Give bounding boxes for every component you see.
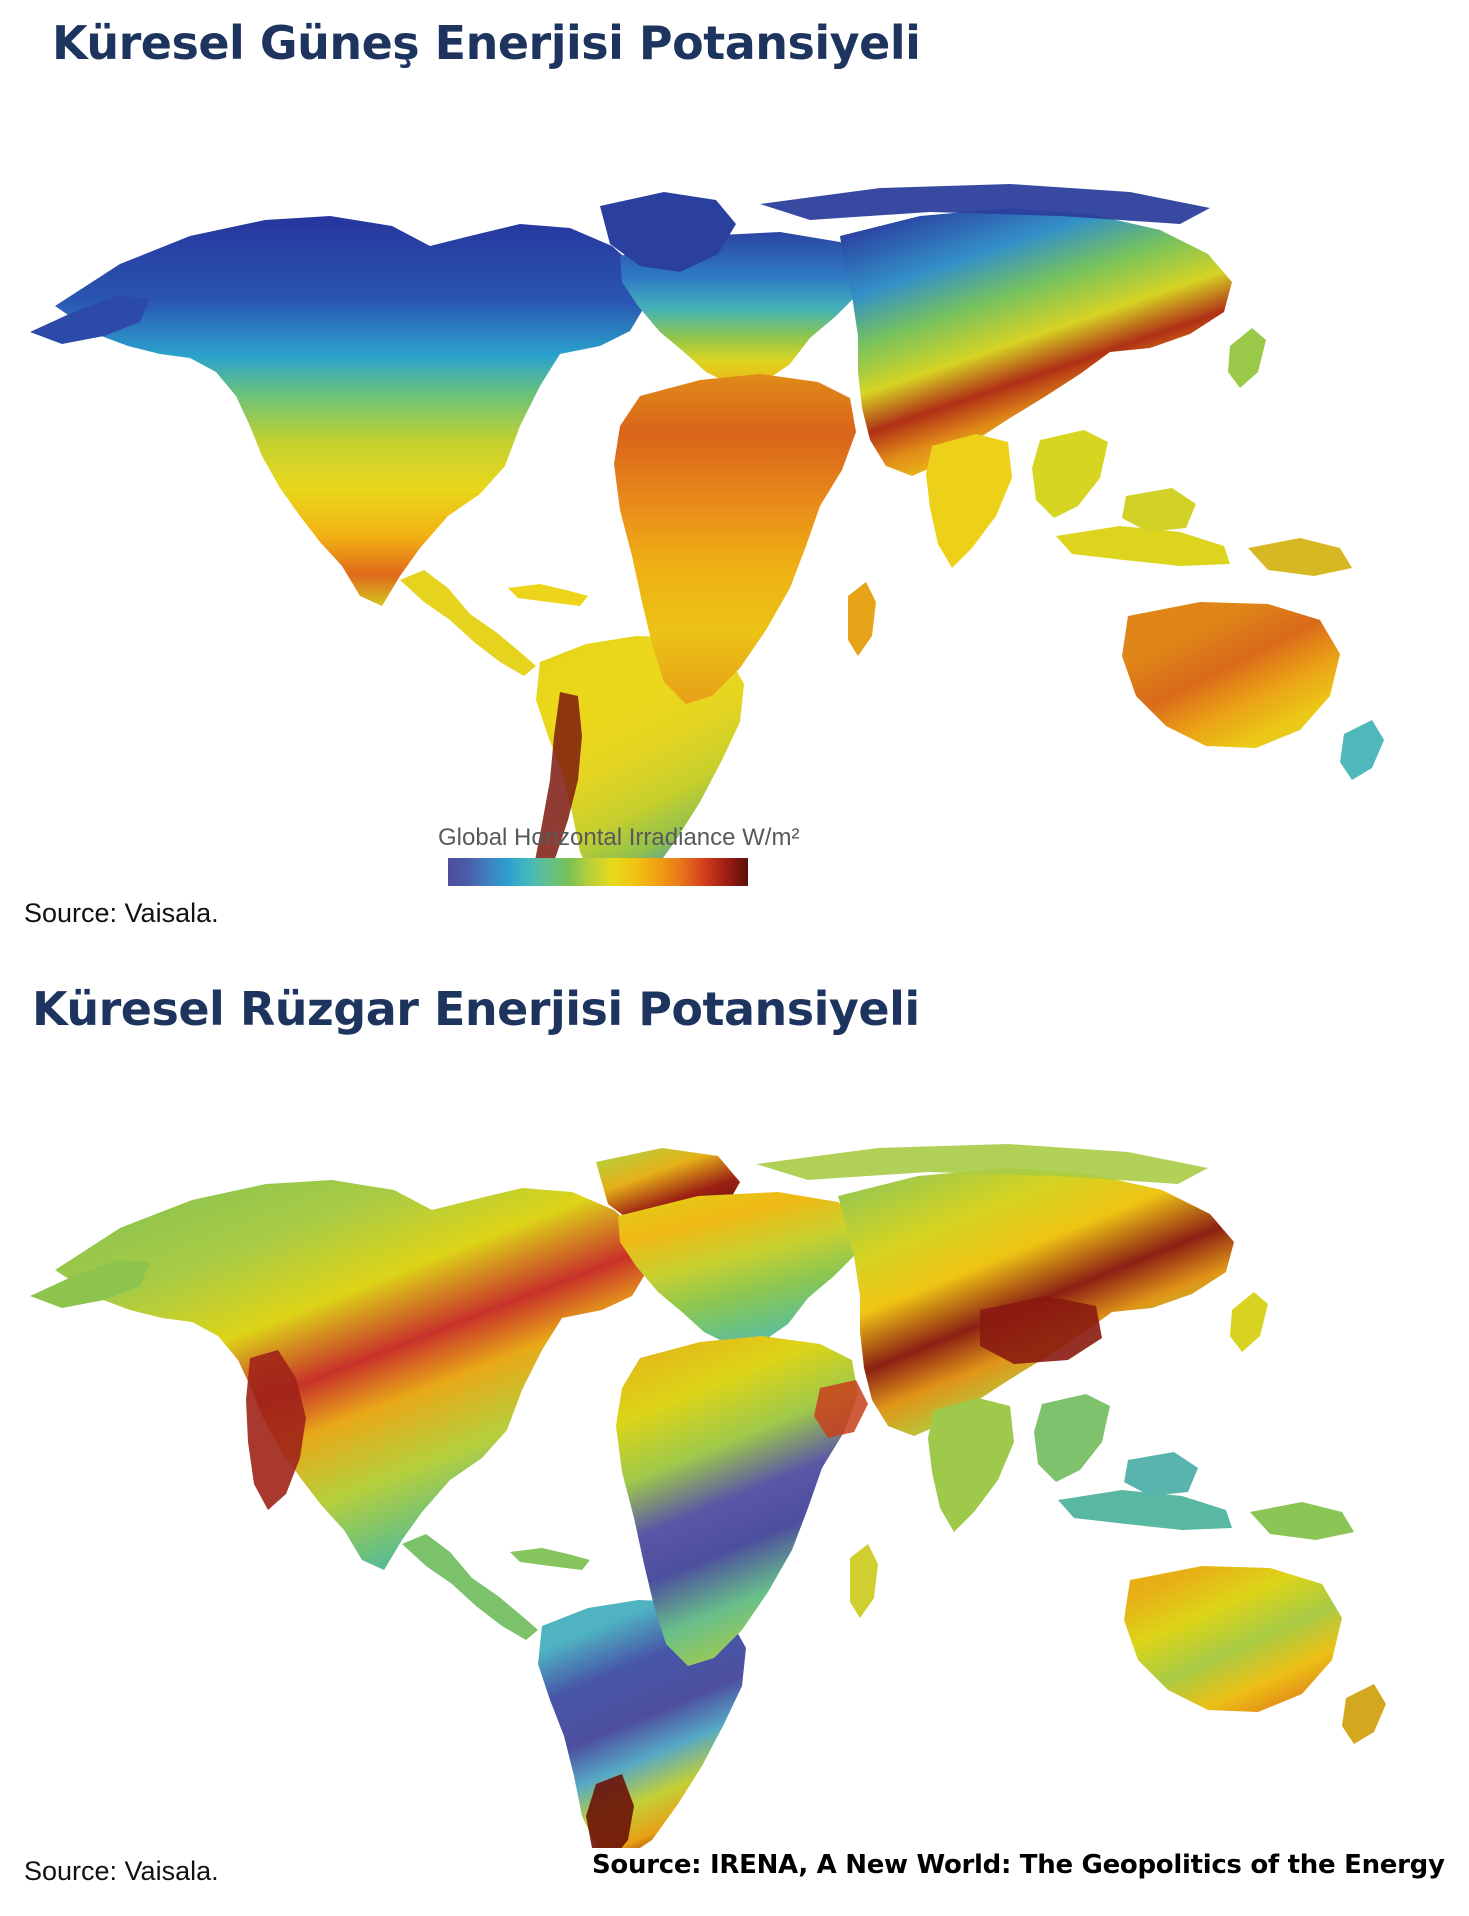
landmass-japan [1230, 1292, 1268, 1352]
landmass-india [928, 1398, 1014, 1532]
landmass-caribbean [510, 1548, 590, 1570]
wind-potential-map: 5km Wind Map Mean Wind Speed at 80m 7 13… [0, 1058, 1469, 1848]
page-root: Küresel Güneş Enerjisi Potansiyeli [0, 0, 1469, 1916]
landmass-new-guinea [1248, 538, 1352, 576]
landmass-europe [618, 1192, 868, 1346]
solar-legend-title: Global Horizontal Irradiance W/m² [438, 824, 758, 852]
wind-title: Küresel Rüzgar Enerjisi Potansiyeli [32, 982, 920, 1036]
wind-source-note: Source: Vaisala. [24, 1856, 219, 1887]
landmass-borneo [1122, 488, 1196, 532]
landmass-central-america [400, 570, 536, 676]
solar-title: Küresel Güneş Enerjisi Potansiyeli [52, 16, 920, 70]
landmass-japan [1228, 328, 1266, 388]
landmass-madagascar [850, 1544, 878, 1618]
landmass-new-guinea [1250, 1502, 1354, 1540]
landmass-indonesia [1056, 526, 1230, 566]
solar-source-note: Source: Vaisala. [24, 898, 219, 929]
solar-map-canvas [0, 96, 1469, 886]
solar-legend: Global Horizontal Irradiance W/m² 175 20… [438, 824, 758, 886]
landmass-borneo [1124, 1452, 1198, 1496]
landmass-caribbean [508, 584, 588, 606]
solar-colorbar [448, 858, 748, 886]
irena-source-note: Source: IRENA, A New World: The Geopolit… [592, 1850, 1445, 1880]
landmass-new-zealand [1340, 720, 1384, 780]
landmass-southeast-asia [1032, 430, 1108, 518]
landmass-central-america [402, 1534, 538, 1640]
tibetan-plateau-highlight [980, 1296, 1102, 1364]
landmass-australia [1122, 602, 1340, 748]
landmass-north-america [55, 1180, 650, 1570]
wind-map-canvas [0, 1058, 1469, 1848]
landmass-australia [1124, 1566, 1342, 1712]
landmass-india [926, 434, 1012, 568]
landmass-north-america [55, 216, 648, 606]
landmass-indonesia [1058, 1490, 1232, 1530]
landmass-new-zealand [1342, 1684, 1386, 1744]
landmass-asia [840, 208, 1232, 476]
solar-potential-map: Global Horizontal Irradiance W/m² 175 20… [0, 96, 1469, 886]
landmass-madagascar [848, 582, 876, 656]
landmass-southeast-asia [1034, 1394, 1110, 1482]
